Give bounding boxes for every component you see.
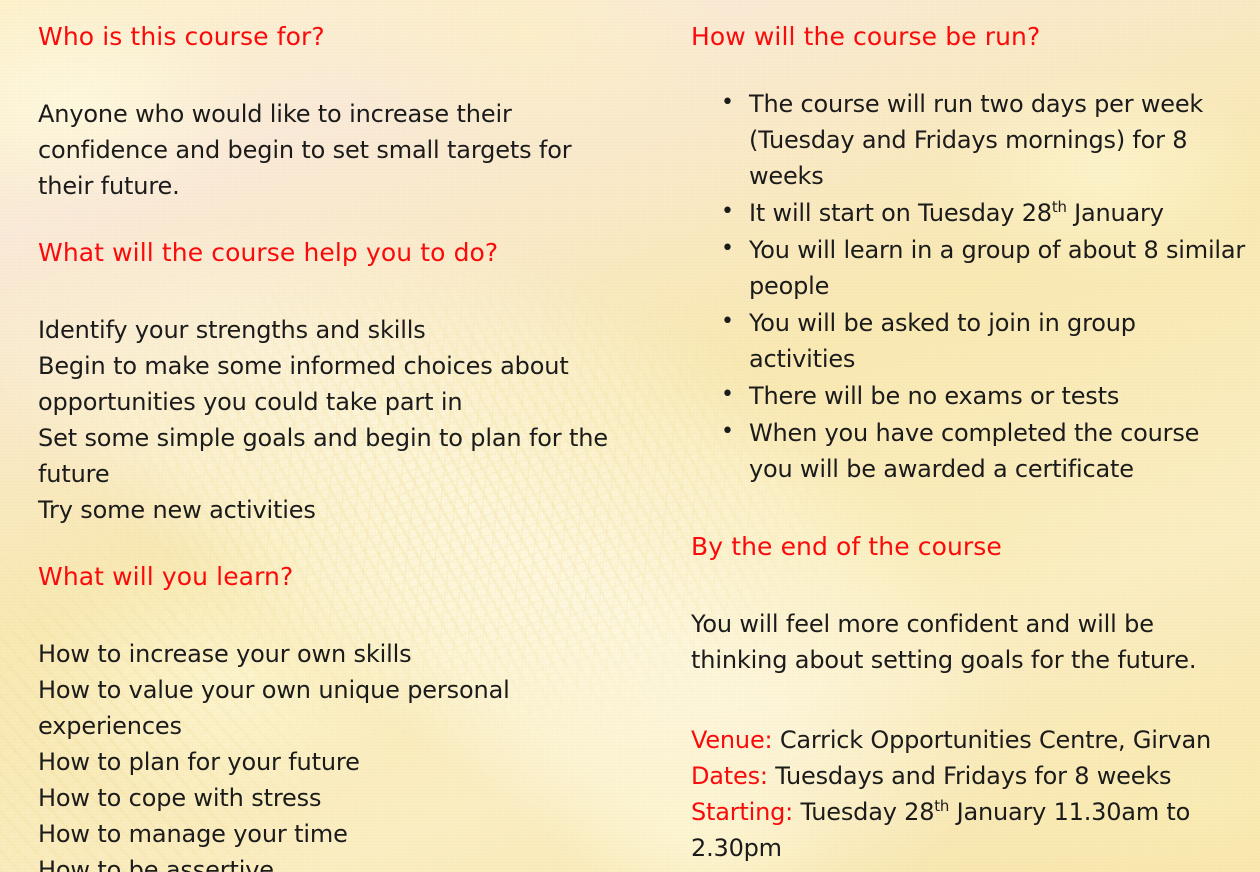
list-item: How to be assertive	[38, 852, 627, 872]
detail-venue-label: Venue:	[691, 726, 772, 754]
ordinal-suffix: th	[1052, 198, 1067, 216]
spacer	[38, 204, 627, 238]
heading-by-the-end-of-the-course: By the end of the course	[691, 532, 1246, 562]
flyer-content: Who is this course for? Anyone who would…	[0, 0, 1260, 872]
heading-what-will-the-course-help-you-to-do: What will the course help you to do?	[38, 238, 627, 268]
list-item: How to cope with stress	[38, 780, 627, 816]
detail-dates-value: Tuesdays and Fridays for 8 weeks	[775, 762, 1171, 790]
spacer	[691, 562, 1246, 606]
list-item: Identify your strengths and skills	[38, 312, 627, 348]
ordinal-suffix: th	[934, 797, 949, 815]
list-course-help: Identify your strengths and skills Begin…	[38, 312, 627, 528]
right-column: How will the course be run? The course w…	[645, 0, 1260, 872]
list-item: The course will run two days per week (T…	[721, 86, 1246, 194]
flyer-page: Who is this course for? Anyone who would…	[0, 0, 1260, 872]
detail-starting-value-a: Tuesday 28	[800, 798, 934, 826]
list-item: Try some new activities	[38, 492, 627, 528]
list-item: How to increase your own skills	[38, 636, 627, 672]
list-item: Begin to make some informed choices abou…	[38, 348, 627, 384]
list-item: opportunities you could take part in	[38, 384, 627, 420]
spacer	[691, 52, 1246, 86]
course-details-block: Venue: Carrick Opportunities Centre, Gir…	[691, 722, 1246, 872]
list-item-text-after: January	[1067, 199, 1164, 227]
detail-venue: Venue: Carrick Opportunities Centre, Gir…	[691, 722, 1246, 758]
detail-venue-value: Carrick Opportunities Centre, Girvan	[780, 726, 1211, 754]
detail-starting-label: Starting:	[691, 798, 793, 826]
spacer	[38, 592, 627, 636]
detail-starting: Starting: Tuesday 28th January 11.30am t…	[691, 794, 1246, 866]
list-item: How to value your own unique personal ex…	[38, 672, 627, 744]
spacer	[38, 528, 627, 562]
paragraph-end-of-course: You will feel more confident and will be…	[691, 606, 1216, 678]
list-item: There will be no exams or tests	[721, 378, 1246, 414]
spacer	[691, 488, 1246, 532]
paragraph-audience: Anyone who would like to increase their …	[38, 96, 613, 204]
detail-starting-second: & Friday 31st January 9.30am to 12.30pm.	[691, 866, 1246, 872]
list-item: How to plan for your future	[38, 744, 627, 780]
detail-dates-label: Dates:	[691, 762, 768, 790]
left-column: Who is this course for? Anyone who would…	[0, 0, 645, 872]
heading-what-will-you-learn: What will you learn?	[38, 562, 627, 592]
list-item: future	[38, 456, 627, 492]
list-item: How to manage your time	[38, 816, 627, 852]
detail-dates: Dates: Tuesdays and Fridays for 8 weeks	[691, 758, 1246, 794]
spacer	[38, 52, 627, 96]
list-what-you-learn: How to increase your own skills How to v…	[38, 636, 627, 872]
list-item: You will be asked to join in group activ…	[721, 305, 1246, 377]
list-item: Set some simple goals and begin to plan …	[38, 420, 627, 456]
spacer	[38, 268, 627, 312]
list-item-text-before: It will start on Tuesday 28	[749, 199, 1052, 227]
list-item: When you have completed the course you w…	[721, 415, 1246, 487]
heading-who-is-this-course-for: Who is this course for?	[38, 22, 627, 52]
bullet-list-how-course-runs: The course will run two days per week (T…	[691, 86, 1246, 487]
list-item: It will start on Tuesday 28th January	[721, 195, 1246, 231]
list-item: You will learn in a group of about 8 sim…	[721, 232, 1246, 304]
spacer	[691, 678, 1246, 722]
heading-how-will-the-course-be-run: How will the course be run?	[691, 22, 1246, 52]
